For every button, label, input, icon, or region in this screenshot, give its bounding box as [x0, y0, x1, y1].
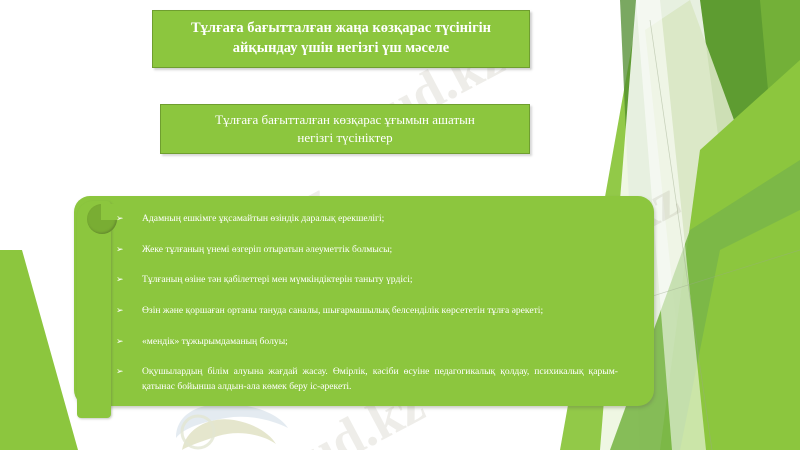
subheading-lines: Тұлғаға бағытталған көзқарас ұғымын ашат…: [195, 111, 495, 146]
list-item-text: «мендік» тұжырымдаманың болуы;: [142, 335, 618, 349]
scroll-curl-mask: [101, 204, 117, 220]
list-item: ➢ Өзін және қоршаған ортаны тануда санал…: [116, 304, 618, 318]
subheading-line-1: Тұлғаға бағытталған көзқарас ұғымын ашат…: [205, 111, 485, 129]
heading-line-1: Тұлғаға бағытталған жаңа көзқарас түсіні…: [181, 19, 501, 39]
arrow-bullet-icon: ➢: [116, 243, 142, 257]
slide-subheading: Тұлғаға бағытталған көзқарас ұғымын ашат…: [160, 104, 530, 154]
list-item: ➢ Жеке тұлғаның үнемі өзгеріп отыратын ә…: [116, 243, 618, 257]
list-item: ➢ Оқушылардың білім алуына жағдай жасау.…: [116, 365, 618, 394]
heading-lines: Тұлғаға бағытталған жаңа көзқарас түсіні…: [171, 19, 511, 58]
list-item-text: Оқушылардың білім алуына жағдай жасау. Ө…: [142, 365, 618, 394]
list-item-text: Жеке тұлғаның үнемі өзгеріп отыратын әле…: [142, 243, 618, 257]
scroll-panel: ➢ Адамның ешкімге ұқсамайтын өзіндік дар…: [74, 196, 654, 418]
bullet-list: ➢ Адамның ешкімге ұқсамайтын өзіндік дар…: [116, 206, 632, 400]
arrow-bullet-icon: ➢: [116, 335, 142, 349]
list-item: ➢ «мендік» тұжырымдаманың болуы;: [116, 335, 618, 349]
slide-canvas: Stud.kz Stud.kz Stud.kz Stud.kz Тұлғаға …: [0, 0, 800, 450]
list-item: ➢ Адамның ешкімге ұқсамайтын өзіндік дар…: [116, 212, 618, 226]
arrow-bullet-icon: ➢: [116, 273, 142, 287]
arrow-bullet-icon: ➢: [116, 365, 142, 379]
slide-heading: Тұлғаға бағытталған жаңа көзқарас түсіні…: [152, 10, 530, 68]
list-item-text: Өзін және қоршаған ортаны тануда саналы,…: [142, 304, 618, 318]
list-item-text: Тұлғаның өзіне тән қабілеттері мен мүмкі…: [142, 273, 618, 287]
list-item: ➢ Тұлғаның өзіне тән қабілеттері мен мүм…: [116, 273, 618, 287]
arrow-bullet-icon: ➢: [116, 212, 142, 226]
scroll-roll-left: [77, 201, 111, 418]
subheading-line-2: негізгі түсініктер: [205, 129, 485, 147]
list-item-text: Адамның ешкімге ұқсамайтын өзіндік дарал…: [142, 212, 618, 226]
heading-line-2: айқындау үшін негізгі үш мәселе: [181, 39, 501, 59]
arrow-bullet-icon: ➢: [116, 304, 142, 318]
